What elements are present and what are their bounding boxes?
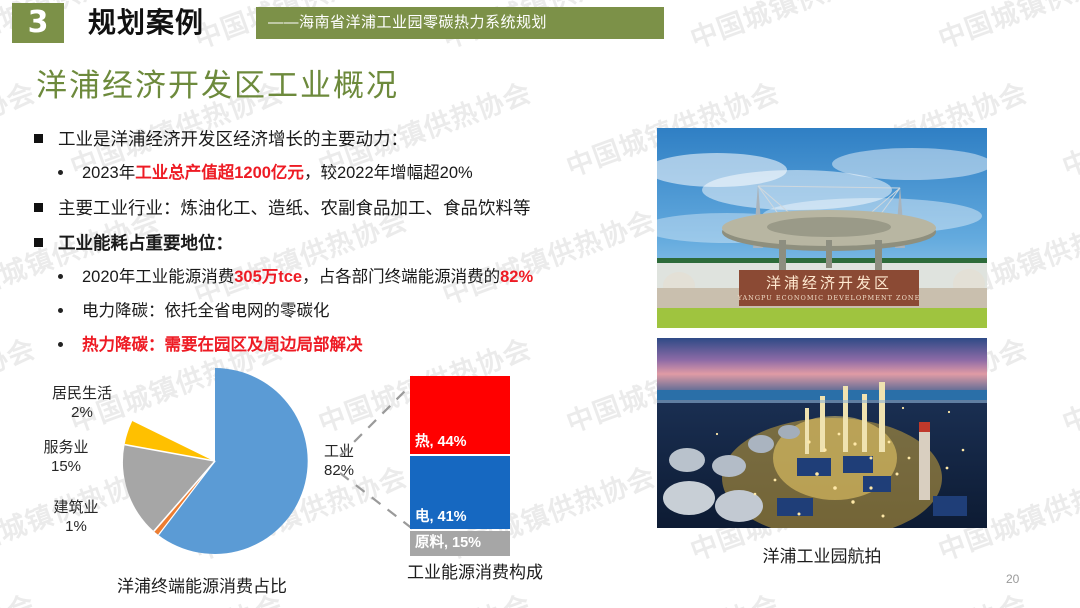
bullet-item: 工业是洋浦经济开发区经济增长的主要动力： — [28, 126, 648, 152]
pie-label-name: 建筑业 — [30, 498, 122, 517]
pie-label-value: 2% — [34, 403, 130, 422]
bullet-item: 电力降碳：依托全省电网的零碳化 — [28, 299, 648, 324]
header-banner-text: ——海南省洋浦工业园零碳热力系统规划 — [268, 7, 547, 39]
shoreline — [657, 400, 987, 403]
bar-segment-label: 电, 41% — [415, 505, 467, 526]
pie-label-name: 服务业 — [20, 438, 112, 457]
bullet-emphasis: 工业总产值超1200亿元 — [135, 161, 304, 186]
bullet-emphasis-2: 82% — [500, 265, 533, 290]
bullet-text: 电力降碳：依托全省电网的零碳化 — [82, 302, 330, 320]
watermark-text: 中国城镇供热协会 — [1056, 71, 1080, 184]
pie-chart: 居民生活 2% 服务业 15% 建筑业 1% 工业 82% 洋浦终端能源消费占比 — [12, 366, 362, 608]
bar-segment-label: 原料, 15% — [415, 531, 481, 552]
sign-text-cn: 洋浦经济开发区 — [766, 274, 892, 292]
bullet-item: 主要工业行业：炼油化工、造纸、农副食品加工、食品饮料等 — [28, 195, 648, 221]
bullet-text: 主要工业行业：炼油化工、造纸、农副食品加工、食品饮料等 — [58, 198, 531, 218]
bullet-item: 2020年工业能源消费305万tce，占各部门终端能源消费的82% — [28, 265, 648, 290]
bullet-text-pre: 2023年 — [82, 161, 135, 186]
column — [875, 240, 882, 274]
bullet-item: 工业能耗占重要地位： — [28, 230, 648, 256]
bullet-text-pre: 2020年工业能源消费 — [82, 265, 234, 290]
watermark-text: 中国城镇供热协会 — [808, 583, 1032, 608]
stacked-bar-chart: 热, 44% 电, 41% 原料, 15% 工业能源消费构成 — [360, 366, 590, 608]
bar-chart-caption: 工业能源消费构成 — [360, 558, 590, 583]
watermark-text: 中国城镇供热协会 — [560, 583, 784, 608]
section-title: 规划案例 — [88, 3, 204, 43]
bullet-item-highlight: 热力降碳：需要在园区及周边局部解决 — [28, 333, 648, 358]
bullet-text: 工业能耗占重要地位： — [58, 233, 233, 253]
photo-yangpu-gateway: 洋浦经济开发区 YANGPU ECONOMIC DEVELOPMENT ZONE — [657, 128, 987, 328]
watermark-text: 中国城镇供热协会 — [1056, 327, 1080, 440]
cloud — [832, 148, 987, 180]
bar-segment-electricity: 电, 41% — [410, 456, 510, 529]
bullet-item: 2023年工业总产值超1200亿元，较2022年增幅超20% — [28, 161, 648, 186]
chimney-top — [919, 422, 930, 432]
section-number: 3 — [12, 3, 64, 43]
section-number-box: 3 — [12, 3, 64, 43]
photo-industrial-aerial — [657, 338, 987, 528]
hedge — [657, 308, 987, 328]
bullet-text: 工业是洋浦经济开发区经济增长的主要动力： — [58, 129, 408, 149]
photo-industrial-aerial-svg — [657, 338, 987, 528]
pie-label-name: 居民生活 — [34, 384, 130, 403]
pie-label-construction: 建筑业 1% — [30, 498, 122, 536]
bullet-list: 工业是洋浦经济开发区经济增长的主要动力： 2023年工业总产值超1200亿元，较… — [28, 126, 648, 367]
stacked-bar-column: 热, 44% 电, 41% 原料, 15% — [410, 376, 510, 556]
bar-segment-feedstock: 原料, 15% — [410, 531, 510, 556]
chimney — [919, 422, 930, 500]
pie-svg — [122, 368, 308, 554]
pie-label-value: 1% — [30, 517, 122, 536]
dusk-sky — [657, 338, 987, 396]
pie-label-services: 服务业 15% — [20, 438, 112, 476]
photo-caption: 洋浦工业园航拍 — [657, 542, 987, 567]
header-banner: ——海南省洋浦工业园零碳热力系统规划 — [256, 7, 664, 39]
bullet-emphasis: 305万tce — [234, 265, 302, 290]
bar-segment-label: 热, 44% — [415, 430, 467, 451]
bullet-text-post: ，较2022年增幅超20% — [304, 161, 473, 186]
pie-label-residential: 居民生活 2% — [34, 384, 130, 422]
pie-chart-caption: 洋浦终端能源消费占比 — [52, 572, 352, 597]
bullet-text-mid: ，占各部门终端能源消费的 — [302, 265, 500, 290]
photo-yangpu-gateway-svg: 洋浦经济开发区 YANGPU ECONOMIC DEVELOPMENT ZONE — [657, 128, 987, 328]
canopy-inner — [767, 217, 891, 237]
watermark-text: 中国城镇供热协会 — [1056, 583, 1080, 608]
slide-header: 3 规划案例 ——海南省洋浦工业园零碳热力系统规划 — [0, 0, 1080, 46]
sign-text-en: YANGPU ECONOMIC DEVELOPMENT ZONE — [737, 294, 921, 302]
pie-label-value: 15% — [20, 457, 112, 476]
column — [826, 240, 832, 268]
bar-segment-heat: 热, 44% — [410, 376, 510, 454]
pie-graphic — [122, 368, 308, 554]
bullet-text: 热力降碳：需要在园区及周边局部解决 — [82, 336, 363, 354]
page-number: 20 — [1006, 572, 1019, 586]
page-title: 洋浦经济开发区工业概况 — [36, 60, 399, 105]
column — [779, 240, 786, 274]
